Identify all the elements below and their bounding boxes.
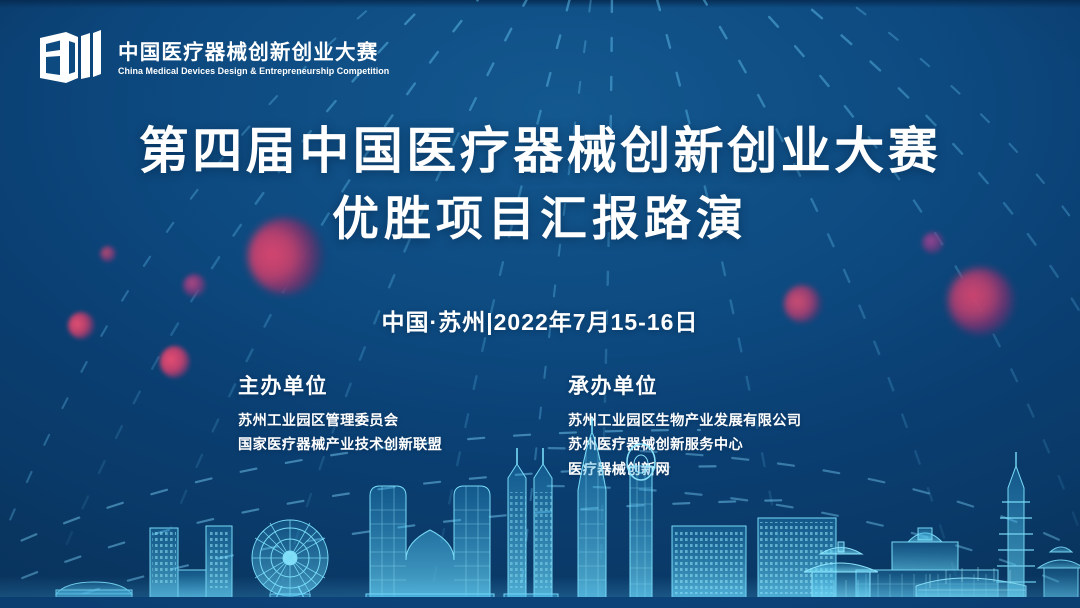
organizer-column-coorganizer: 承办单位 苏州工业园区生物产业发展有限公司 苏州医疗器械创新服务中心 医疗器械创… xyxy=(540,370,850,482)
suzhou-skyline-overlay xyxy=(0,488,1080,608)
sphere-small-f xyxy=(100,246,116,262)
event-date-location: 中国·苏州|2022年7月15-16日 xyxy=(0,303,1080,337)
organizers-section: 主办单位 苏州工业园区管理委员会 国家医疗器械产业技术创新联盟 承办单位 苏州工… xyxy=(0,370,1080,482)
organizer-line: 苏州医疗器械创新服务中心 xyxy=(568,433,850,457)
headline-block: 第四届中国医疗器械创新创业大赛 优胜项目汇报路演 xyxy=(0,123,1080,246)
sphere-small-c xyxy=(183,274,206,297)
organizer-line: 苏州工业园区生物产业发展有限公司 xyxy=(568,409,850,433)
organizer-column-host: 主办单位 苏州工业园区管理委员会 国家医疗器械产业技术创新联盟 xyxy=(230,370,540,482)
bottom-bar xyxy=(0,597,1080,608)
organizer-line: 国家医疗器械产业技术创新联盟 xyxy=(238,433,540,457)
page-title-line1: 第四届中国医疗器械创新创业大赛 xyxy=(0,123,1080,179)
logo-english-name: China Medical Devices Design & Entrepren… xyxy=(118,65,389,79)
organizer-line: 医疗器械创新网 xyxy=(568,458,850,482)
organizer-title: 承办单位 xyxy=(568,370,850,400)
organizer-title: 主办单位 xyxy=(238,370,540,400)
poster-canvas: 中国医疗器械创新创业大赛 China Medical Devices Desig… xyxy=(0,0,1080,608)
page-title-line2: 优胜项目汇报路演 xyxy=(0,193,1080,246)
organizer-line: 苏州工业园区管理委员会 xyxy=(238,409,540,433)
top-shade xyxy=(0,0,1080,8)
logo-text-block: 中国医疗器械创新创业大赛 China Medical Devices Desig… xyxy=(118,40,398,79)
logo-chinese-name: 中国医疗器械创新创业大赛 xyxy=(118,42,398,65)
logo-lockup: 中国医疗器械创新创业大赛 China Medical Devices Desig… xyxy=(36,28,398,90)
open-book-gate-logo-icon xyxy=(36,28,104,90)
skyline-baseline-glow xyxy=(0,576,1080,598)
